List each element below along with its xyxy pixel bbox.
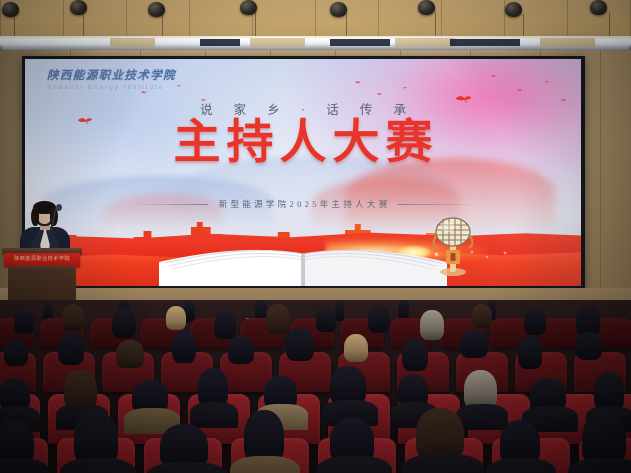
screen-institution-logo: 陕西能源职业技术学院 Shaanxi Energy Institute	[47, 67, 176, 91]
microphone-icon	[427, 210, 479, 280]
strip-block	[110, 38, 155, 47]
rule-right	[398, 204, 476, 205]
strip-block	[540, 38, 595, 47]
bird-icon	[377, 93, 382, 96]
audience-shoulders	[230, 456, 300, 473]
rule-left	[130, 204, 208, 205]
audience-shoulders	[316, 456, 392, 473]
open-book-icon	[153, 244, 453, 286]
audience-head	[14, 310, 34, 334]
audience-head	[576, 332, 602, 360]
strip-dark-block	[330, 39, 390, 46]
speaker-hair-left	[31, 207, 39, 226]
audience-head	[368, 306, 390, 333]
spotlight-wire	[83, 12, 84, 37]
audience-head	[472, 304, 492, 328]
ceiling-rib	[441, 0, 442, 40]
audience-head	[460, 330, 488, 358]
audience-shoulders	[190, 402, 238, 428]
audience-area	[0, 300, 631, 473]
spotlight-wire	[435, 12, 436, 36]
poster-event-text: 新型能源学院2025年主持人大赛	[215, 198, 390, 210]
audience-head	[402, 338, 428, 371]
audience-shoulders	[568, 458, 631, 473]
audience-head	[228, 336, 254, 364]
spotlight-wire	[162, 14, 163, 38]
led-screen-frame: 陕西能源职业技术学院 Shaanxi Energy Institute 说 家 …	[22, 56, 585, 289]
strip-dark-block	[450, 39, 520, 46]
audience-head	[335, 302, 345, 321]
spotlight-wire	[609, 12, 610, 37]
podium-microphone-head	[56, 204, 62, 211]
audience-head	[214, 312, 236, 339]
audience-head	[4, 338, 28, 366]
poster-title: 主持人大赛	[25, 117, 581, 169]
audience-head	[316, 308, 336, 332]
bird-icon	[491, 75, 496, 78]
audience-shoulders	[456, 404, 508, 430]
spotlight-wire	[255, 12, 256, 38]
audience-head	[116, 340, 144, 368]
bird-icon	[545, 81, 549, 83]
bird-icon	[177, 85, 181, 87]
spotlight	[590, 0, 607, 15]
auditorium-photo: 陕西能源职业技术学院 Shaanxi Energy Institute 说 家 …	[0, 0, 631, 473]
spotlight	[70, 0, 87, 15]
audience-head	[286, 328, 314, 361]
audience-head	[112, 308, 136, 338]
audience-head	[266, 304, 290, 334]
bird-icon	[403, 87, 407, 89]
spotlight	[2, 2, 19, 17]
institution-name-en: Shaanxi Energy Institute	[47, 84, 176, 91]
strip-block	[250, 38, 305, 47]
ceiling-rib	[126, 0, 127, 40]
spotlight	[418, 0, 435, 15]
audience-shoulders	[60, 458, 136, 473]
spark	[504, 252, 506, 254]
spotlight	[330, 2, 347, 17]
spotlight	[505, 2, 522, 17]
ceiling-rib	[0, 0, 1, 40]
audience-shoulders	[486, 458, 556, 473]
ceiling-rib	[315, 0, 316, 40]
audience-head	[62, 304, 84, 331]
bird-icon	[355, 81, 361, 84]
audience-head	[172, 330, 196, 363]
ceiling-rib	[567, 0, 568, 40]
bird-icon	[517, 89, 522, 92]
strip-block	[395, 38, 455, 47]
poster-event-line: 新型能源学院2025年主持人大赛	[25, 198, 581, 210]
audience-head	[344, 334, 368, 362]
ceiling-rib	[63, 0, 64, 40]
audience-head	[166, 306, 186, 330]
podium-banner: 陕西能源职业技术学院	[4, 253, 80, 267]
audience-head	[524, 308, 546, 335]
audience-head	[518, 336, 542, 369]
audience-head	[420, 310, 444, 340]
bird-icon	[141, 91, 147, 94]
podium-banner-text: 陕西能源职业技术学院	[8, 256, 76, 262]
ceiling-rib	[378, 0, 379, 40]
institution-name-cn: 陕西能源职业技术学院	[47, 67, 176, 83]
audience-head	[58, 332, 84, 365]
spark	[486, 256, 488, 258]
ceiling-rib	[189, 0, 190, 40]
audience-shoulders	[402, 454, 484, 473]
poster-subtitle: 说 家 乡 · 话 传 承	[25, 99, 581, 118]
strip-dark-block	[200, 39, 240, 46]
led-screen: 陕西能源职业技术学院 Shaanxi Energy Institute 说 家 …	[25, 59, 581, 286]
